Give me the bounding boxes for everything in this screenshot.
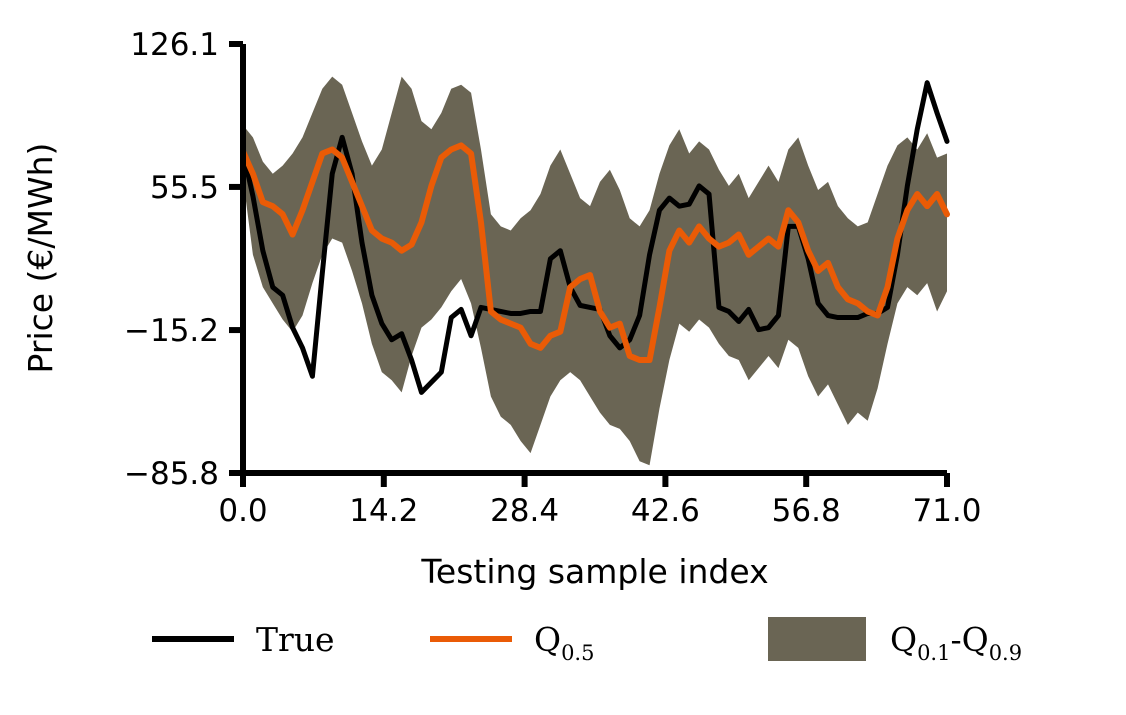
y-tick-label: −85.8 (124, 456, 219, 492)
x-tick-label: 28.4 (490, 493, 559, 529)
x-axis-title: Testing sample index (420, 552, 768, 591)
x-tick-label: 71.0 (912, 493, 981, 529)
x-tick-label: 42.6 (631, 493, 700, 529)
legend-patch-swatch (768, 617, 866, 661)
chart-root: 126.155.5−15.2−85.8 0.014.228.442.656.87… (0, 0, 1126, 715)
y-tick-label: 55.5 (150, 170, 219, 206)
y-tick-label: −15.2 (124, 313, 219, 349)
legend-label: True (256, 620, 335, 659)
y-tick-label: 126.1 (130, 27, 219, 63)
x-tick-label: 56.8 (772, 493, 841, 529)
x-tick-label: 0.0 (218, 493, 267, 529)
legend-item[interactable]: Q0.1-Q0.9 (768, 617, 1022, 665)
forecast-quantile-chart: 126.155.5−15.2−85.8 0.014.228.442.656.87… (0, 0, 1126, 715)
x-tick-label: 14.2 (349, 493, 418, 529)
y-axis-title: Price (€/MWh) (21, 143, 60, 374)
